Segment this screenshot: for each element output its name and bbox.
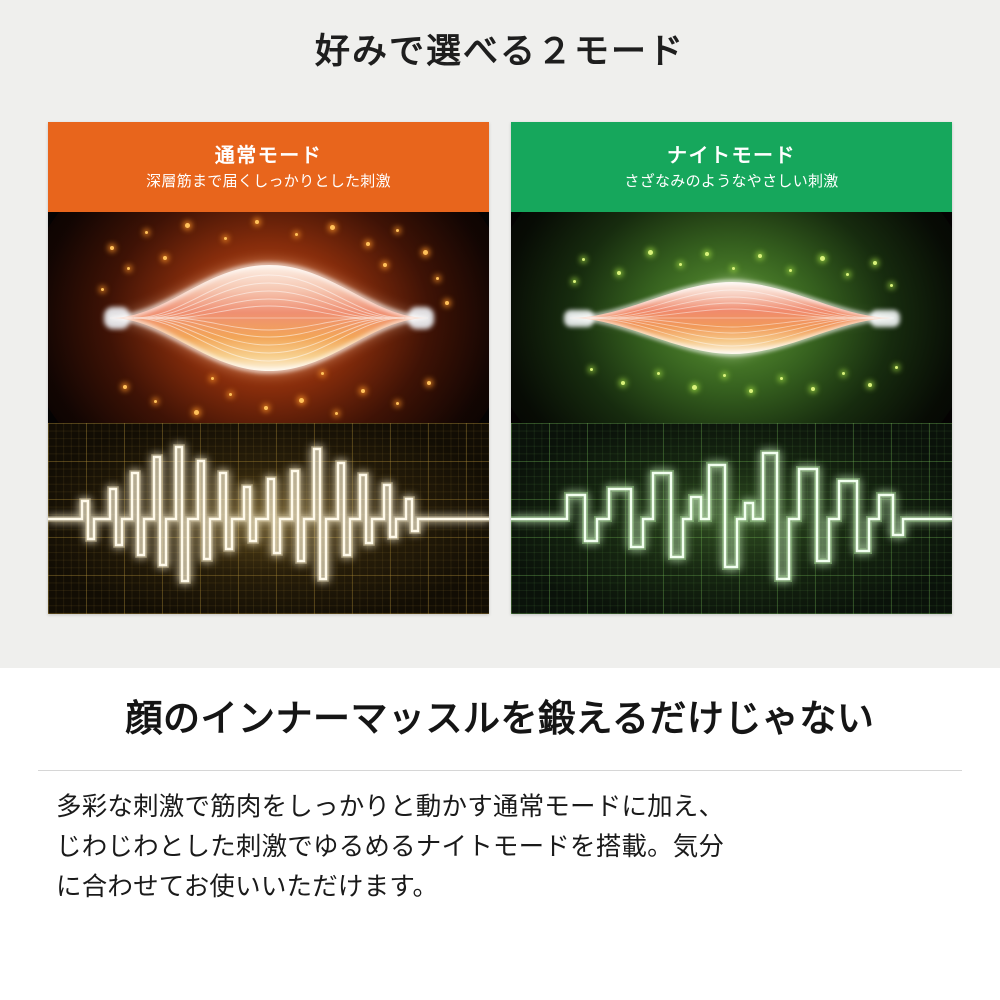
mode-header-night: ナイトモード さざなみのようなやさしい刺激 [511, 122, 952, 212]
body-line-3: に合わせてお使いいただけます。 [56, 868, 952, 908]
waveform-graph-night [511, 423, 952, 614]
mode-header-normal: 通常モード 深層筋まで届くしっかりとした刺激 [48, 122, 489, 212]
divider [38, 770, 962, 771]
body-line-2: じわじわとした刺激でゆるめるナイトモードを搭載。気分 [56, 828, 952, 868]
mode-description-normal: 深層筋まで届くしっかりとした刺激 [146, 173, 391, 191]
mode-name-normal: 通常モード [215, 144, 323, 168]
mode-description-night: さざなみのようなやさしい刺激 [624, 173, 838, 191]
muscle-fiber-image-normal [48, 212, 489, 423]
hero-section: 好みで選べる２モード 通常モード 深層筋まで届くしっかりとした刺激 [0, 0, 1000, 668]
section-heading: 顔のインナーマッスルを鍛えるだけじゃない [0, 697, 1000, 741]
waveform-trace-night [511, 423, 952, 614]
section-body: 多彩な刺激で筋肉をしっかりと動かす通常モードに加え、 じわじわとした刺激でゆるめ… [56, 788, 952, 907]
muscle-spindle-normal [104, 243, 434, 393]
muscle-fiber-image-night [511, 212, 952, 423]
mode-panel-night[interactable]: ナイトモード さざなみのようなやさしい刺激 [511, 122, 952, 614]
mode-name-night: ナイトモード [667, 144, 796, 168]
lower-section: 顔のインナーマッスルを鍛えるだけじゃない 多彩な刺激で筋肉をしっかりと動かす通常… [0, 668, 1000, 1000]
muscle-spindle-night [564, 266, 900, 370]
mode-comparison-panels: 通常モード 深層筋まで届くしっかりとした刺激 [48, 122, 952, 614]
waveform-trace-normal [48, 423, 489, 614]
page-title: 好みで選べる２モード [0, 30, 1000, 74]
body-line-1: 多彩な刺激で筋肉をしっかりと動かす通常モードに加え、 [56, 788, 952, 828]
waveform-graph-normal [48, 423, 489, 614]
mode-panel-normal[interactable]: 通常モード 深層筋まで届くしっかりとした刺激 [48, 122, 489, 614]
